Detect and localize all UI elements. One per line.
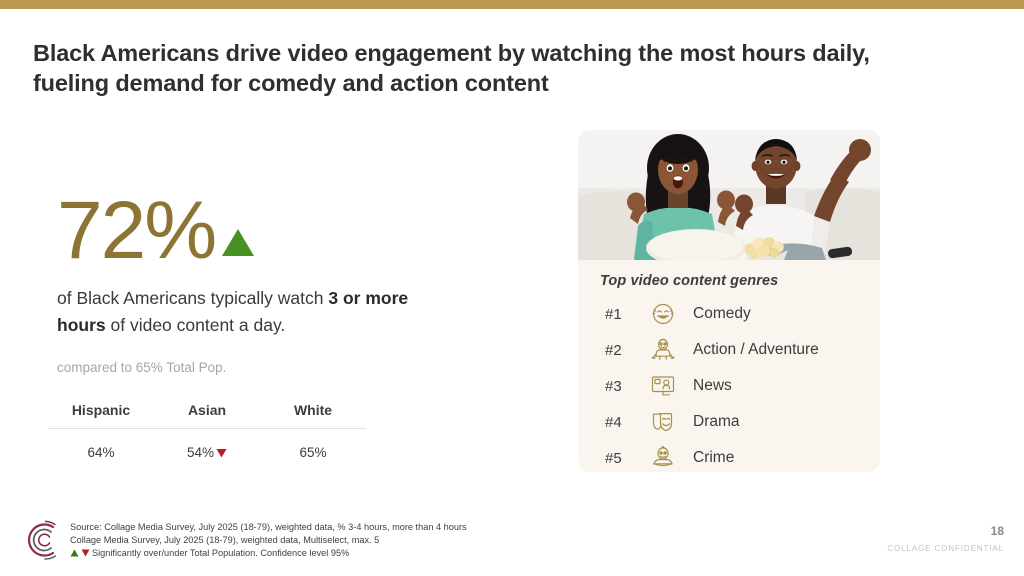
table-cell-hispanic: 64% — [48, 429, 154, 460]
triangle-down-icon — [214, 448, 227, 458]
gold-accent-bar — [0, 0, 1024, 9]
source-note: Source: Collage Media Survey, July 2025 … — [70, 521, 467, 560]
genre-label: Drama — [693, 413, 740, 431]
key-stat-description: of Black Americans typically watch 3 or … — [57, 285, 432, 339]
genre-rank: #4 — [605, 414, 643, 431]
triangle-up-icon — [221, 227, 255, 258]
list-item[interactable]: #2 Action / Adventure — [578, 332, 880, 368]
source-line-3: Significantly over/under Total Populatio… — [92, 548, 349, 558]
table-cell-white: 65% — [260, 429, 366, 460]
panel-title: Top video content genres — [600, 273, 880, 289]
genre-label: Crime — [693, 449, 734, 467]
genre-label: Action / Adventure — [693, 341, 819, 359]
genres-panel: Top video content genres #1 Comedy — [578, 130, 880, 472]
genre-label: Comedy — [693, 305, 751, 323]
source-line-2: Collage Media Survey, July 2025 (18-79),… — [70, 534, 467, 547]
genre-rank: #1 — [605, 306, 643, 323]
collage-c-logo — [21, 518, 65, 562]
genre-label: News — [693, 377, 732, 395]
key-stat: 72% — [57, 190, 255, 272]
list-item[interactable]: #3 News — [578, 368, 880, 404]
couple-watching-tv-photo — [578, 130, 880, 260]
genre-rank: #2 — [605, 342, 643, 359]
theater-masks-icon — [643, 409, 683, 435]
list-item[interactable]: #1 Comedy — [578, 296, 880, 332]
comparison-table: Hispanic Asian White 64% 54% 65% — [48, 402, 366, 460]
source-line-1: Source: Collage Media Survey, July 2025 … — [70, 521, 467, 534]
page-number: 18 — [991, 524, 1004, 538]
masked-criminal-icon — [643, 445, 683, 471]
key-stat-value: 72% — [57, 190, 215, 272]
news-monitor-icon — [643, 373, 683, 399]
page-title: Black Americans drive video engagement b… — [33, 38, 893, 98]
list-item[interactable]: #5 Crime — [578, 440, 880, 472]
action-hero-icon — [643, 337, 683, 363]
laughing-face-icon — [643, 301, 683, 327]
significance-legend-icons — [70, 549, 90, 557]
comparison-note: compared to 65% Total Pop. — [57, 360, 226, 375]
value-white: 65% — [299, 445, 326, 460]
column-header-hispanic: Hispanic — [48, 402, 154, 428]
source-line-3-wrap: Significantly over/under Total Populatio… — [70, 547, 467, 560]
stat-text-suffix: of video content a day. — [106, 315, 286, 335]
confidentiality-label: COLLAGE CONFIDENTIAL — [887, 544, 1004, 553]
slide-root: Black Americans drive video engagement b… — [0, 0, 1024, 576]
value-asian: 54% — [187, 445, 214, 460]
stat-text-prefix: of Black Americans typically watch — [57, 288, 328, 308]
genre-list: #1 Comedy #2 — [578, 296, 880, 472]
value-hispanic: 64% — [87, 445, 114, 460]
column-header-asian: Asian — [154, 402, 260, 428]
table-cell-asian: 54% — [154, 429, 260, 460]
table-row: 64% 54% 65% — [48, 429, 366, 460]
value-asian-wrap: 54% — [187, 445, 227, 460]
table-header-row: Hispanic Asian White — [48, 402, 366, 428]
list-item[interactable]: #4 Drama — [578, 404, 880, 440]
genre-rank: #5 — [605, 450, 643, 467]
genre-rank: #3 — [605, 378, 643, 395]
column-header-white: White — [260, 402, 366, 428]
